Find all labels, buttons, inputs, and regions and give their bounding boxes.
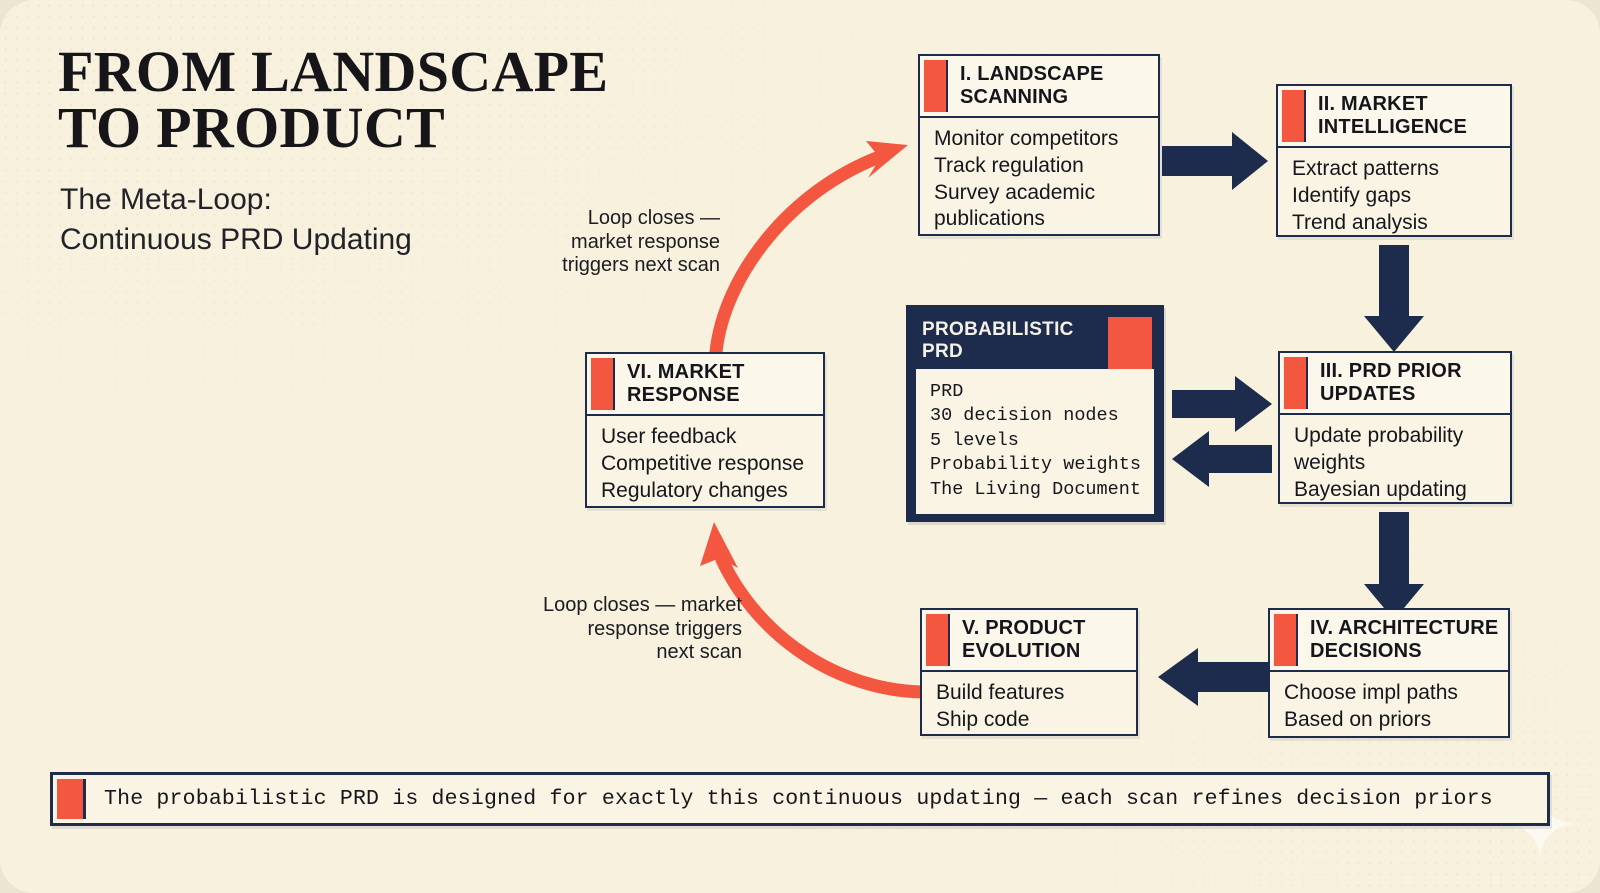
prd-card-title-line-2: PRD (922, 341, 1074, 363)
stage-item: Ship code (936, 707, 1124, 734)
stage-item: Identify gaps (1292, 183, 1498, 210)
footer-text: The probabilistic PRD is designed for ex… (86, 775, 1547, 823)
stage-title-line-1: III. PRD PRIOR (1320, 360, 1462, 383)
prd-card-title: PROBABILISTIC PRD (922, 319, 1074, 362)
stage-header: IV. ARCHITECTURE DECISIONS (1270, 610, 1508, 672)
stage-item: User feedback (601, 424, 811, 451)
loop-annotation-line: triggers next scan (520, 254, 720, 278)
stage-item: Survey academic (934, 180, 1146, 207)
accent-bar (57, 779, 86, 819)
stage-title: VI. MARKET RESPONSE (615, 354, 753, 414)
stage-title-line-2: RESPONSE (627, 384, 745, 407)
stage-item: Track regulation (934, 153, 1146, 180)
accent-square (1108, 317, 1152, 369)
accent-bar (1274, 614, 1298, 666)
page-title-line-1: FROM LANDSCAPE (58, 44, 698, 100)
loop-annotation-line: response triggers (470, 618, 742, 642)
stage-title: III. PRD PRIOR UPDATES (1308, 353, 1470, 413)
stage-title-line-2: DECISIONS (1310, 640, 1498, 663)
loop-annotation-line: next scan (470, 641, 742, 665)
stage-header: II. MARKET INTELLIGENCE (1278, 86, 1510, 148)
stage-items: Build features Ship code (922, 672, 1136, 743)
stage-header: I. LANDSCAPE SCANNING (920, 56, 1158, 118)
stage-item: Monitor competitors (934, 126, 1146, 153)
prd-card-line: Probability weights (930, 453, 1142, 477)
page-title: FROM LANDSCAPE TO PRODUCT (58, 44, 698, 157)
stage-title-line-2: INTELLIGENCE (1318, 116, 1467, 139)
stage-title-line-1: IV. ARCHITECTURE (1310, 617, 1498, 640)
stage-item: Regulatory changes (601, 478, 811, 505)
stage-items: Update probability weights Bayesian upda… (1280, 415, 1510, 513)
stage-title-line-2: SCANNING (960, 86, 1104, 109)
stage-item: Bayesian updating (1294, 477, 1498, 504)
prd-card-line: 5 levels (930, 429, 1142, 453)
stage-box-landscape-scanning[interactable]: I. LANDSCAPE SCANNING Monitor competitor… (918, 54, 1160, 236)
stage-item: Choose impl paths (1284, 680, 1496, 707)
prd-card-header: PROBABILISTIC PRD (908, 307, 1162, 369)
stage-box-market-response[interactable]: VI. MARKET RESPONSE User feedback Compet… (585, 352, 825, 508)
stage-box-product-evolution[interactable]: V. PRODUCT EVOLUTION Build features Ship… (920, 608, 1138, 736)
stage-items: Monitor competitors Track regulation Sur… (920, 118, 1158, 243)
accent-bar (924, 60, 948, 112)
stage-title: II. MARKET INTELLIGENCE (1306, 86, 1475, 146)
stage-title: V. PRODUCT EVOLUTION (950, 610, 1094, 670)
stage-header: V. PRODUCT EVOLUTION (922, 610, 1136, 672)
stage-title-line-1: V. PRODUCT (962, 617, 1086, 640)
accent-bar (1284, 357, 1308, 409)
loop-annotation-line: Loop closes — market (470, 594, 742, 618)
arrow-iv-to-v (1158, 648, 1268, 706)
stage-box-market-intelligence[interactable]: II. MARKET INTELLIGENCE Extract patterns… (1276, 84, 1512, 237)
stage-box-prd-prior-updates[interactable]: III. PRD PRIOR UPDATES Update probabilit… (1278, 351, 1512, 504)
prd-card-lines: PRD 30 decision nodes 5 levels Probabili… (916, 369, 1154, 514)
stage-item: Build features (936, 680, 1124, 707)
prd-card-title-line-1: PROBABILISTIC (922, 319, 1074, 341)
stage-title-line-2: EVOLUTION (962, 640, 1086, 663)
loop-annotation-line: market response (520, 231, 720, 255)
stage-header: VI. MARKET RESPONSE (587, 354, 823, 416)
stage-header: III. PRD PRIOR UPDATES (1280, 353, 1510, 415)
stage-title-line-1: I. LANDSCAPE (960, 63, 1104, 86)
stage-items: Extract patterns Identify gaps Trend ana… (1278, 148, 1510, 246)
stage-title: IV. ARCHITECTURE DECISIONS (1298, 610, 1506, 670)
stage-box-architecture-decisions[interactable]: IV. ARCHITECTURE DECISIONS Choose impl p… (1268, 608, 1510, 738)
footer-callout: The probabilistic PRD is designed for ex… (50, 772, 1550, 826)
stage-item: publications (934, 206, 1146, 233)
accent-bar (591, 358, 615, 410)
arrow-iii-to-iv (1364, 512, 1424, 620)
arrow-iii-to-prd (1172, 431, 1272, 487)
arrow-ii-to-iii (1364, 245, 1424, 352)
arrow-loop-vi-to-i (716, 141, 908, 352)
stage-title-line-1: II. MARKET (1318, 93, 1467, 116)
stage-title-line-2: UPDATES (1320, 383, 1462, 406)
stage-item: Update probability (1294, 423, 1498, 450)
loop-annotation-line: Loop closes — (520, 207, 720, 231)
probabilistic-prd-card[interactable]: PROBABILISTIC PRD PRD 30 decision nodes … (906, 305, 1164, 522)
stage-items: Choose impl paths Based on priors (1270, 672, 1508, 743)
stage-title: I. LANDSCAPE SCANNING (948, 56, 1112, 116)
arrow-i-to-ii (1162, 132, 1268, 190)
diagram-canvas: FROM LANDSCAPE TO PRODUCT The Meta-Loop:… (0, 0, 1600, 893)
prd-card-line: The Living Document (930, 478, 1142, 502)
prd-card-line: PRD (930, 380, 1142, 404)
loop-annotation-top: Loop closes — market response triggers n… (520, 207, 720, 278)
stage-item: weights (1294, 450, 1498, 477)
stage-title-line-1: VI. MARKET (627, 361, 745, 384)
accent-bar (926, 614, 950, 666)
loop-annotation-bottom: Loop closes — market response triggers n… (470, 594, 742, 665)
arrow-prd-to-iii (1172, 376, 1272, 432)
stage-item: Competitive response (601, 451, 811, 478)
prd-card-line: 30 decision nodes (930, 404, 1142, 428)
stage-item: Extract patterns (1292, 156, 1498, 183)
stage-items: User feedback Competitive response Regul… (587, 416, 823, 514)
stage-item: Trend analysis (1292, 210, 1498, 237)
accent-bar (1282, 90, 1306, 142)
page-title-line-2: TO PRODUCT (58, 100, 698, 156)
stage-item: Based on priors (1284, 707, 1496, 734)
